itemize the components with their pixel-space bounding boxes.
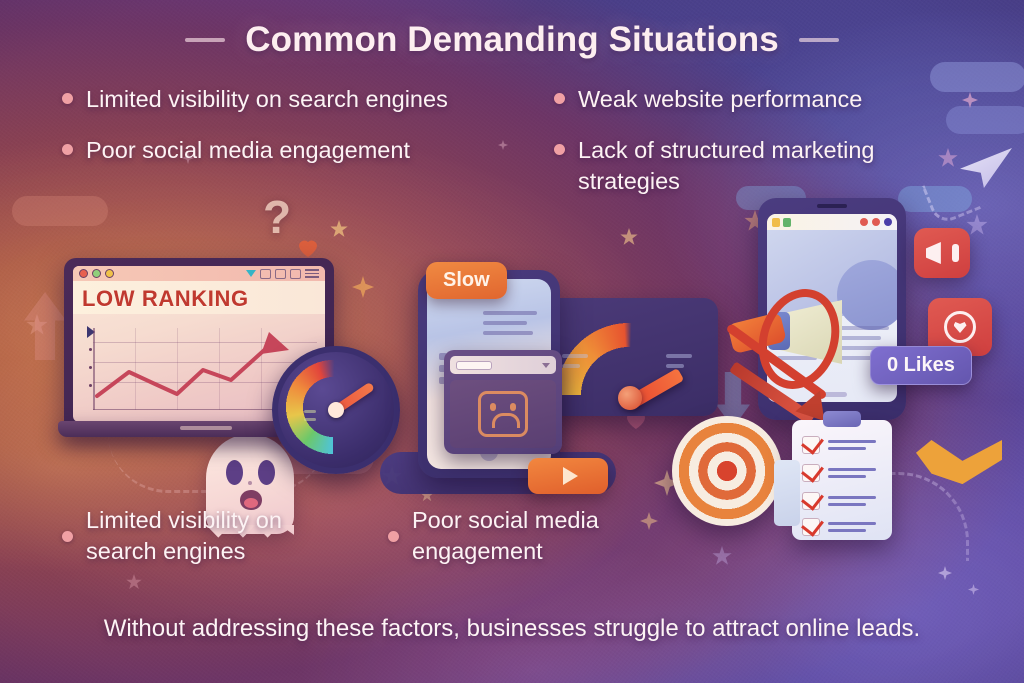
laptop-trackpad-notch (180, 426, 232, 430)
sad-face-eye-left (490, 403, 496, 411)
bottom-bullet-lists: Limited visibility on search engines Poo… (62, 505, 702, 567)
list-item: Poor social media engagement (62, 135, 530, 166)
slow-badge: Slow (426, 262, 507, 299)
browser-toolbar-right (246, 269, 319, 279)
tab-icon (772, 218, 780, 227)
speedometer-tick (562, 364, 580, 368)
gauge-tick (304, 418, 316, 421)
browser-headline-area: LOW RANKING (73, 281, 325, 314)
ghost-nose (248, 481, 252, 485)
bullet-dot-icon (62, 93, 73, 104)
megaphone-handle-glyph (952, 244, 959, 262)
checklist-text (828, 440, 876, 451)
address-field[interactable] (456, 361, 492, 370)
title-rule-right (799, 38, 839, 42)
list-item: Limited visibility on search engines (62, 84, 530, 115)
checklist-row (802, 492, 876, 510)
traffic-light-red-icon (79, 269, 88, 278)
speedometer-tick (666, 354, 692, 358)
clipboard-checklist-icon (792, 420, 892, 540)
megaphone-glyph (926, 242, 950, 264)
bullet-dot-icon (62, 144, 73, 155)
content-line (483, 331, 533, 335)
tab-icon (783, 218, 791, 227)
bullet-label: Limited visibility on search engines (86, 84, 448, 115)
phone-speaker-notch (817, 204, 847, 208)
filter-icon (246, 270, 256, 277)
checklist-text (828, 496, 876, 507)
speedometer-icon (540, 298, 718, 416)
clipboard-clip (823, 411, 861, 427)
panel-icon (260, 269, 271, 279)
sad-face-icon (478, 391, 528, 437)
low-ranking-headline: LOW RANKING (82, 286, 316, 312)
content-line (483, 321, 527, 325)
ghost-eye-left (226, 460, 243, 485)
closing-line: Without addressing these factors, busine… (0, 615, 1024, 643)
loading-window-icon (444, 350, 562, 454)
title-row: Common Demanding Situations (0, 20, 1024, 60)
megaphone-notification-icon (914, 228, 970, 278)
sad-face-eye-right (510, 403, 516, 411)
bullet-column-left: Limited visibility on search engines Poo… (62, 84, 530, 197)
bullet-label: Limited visibility on search engines (86, 505, 342, 567)
check-icon (801, 431, 824, 454)
status-dot-icon (872, 218, 880, 226)
panel-icon (275, 269, 286, 279)
chevron-down-icon (542, 363, 550, 368)
play-button-icon[interactable] (528, 458, 608, 494)
infographic-canvas: Common Demanding Situations Limited visi… (0, 0, 1024, 683)
status-dot-icon (860, 218, 868, 226)
bullet-dot-icon (554, 144, 565, 155)
phone-slow-illustration: Slow (404, 262, 604, 482)
title-rule-left (185, 38, 225, 42)
social-illustration: 0 Likes (742, 188, 1024, 508)
bullet-label: Poor social media engagement (86, 135, 410, 166)
checkbox-checked (802, 518, 820, 536)
heart-glyph (944, 311, 976, 343)
status-dot-icon (884, 218, 892, 226)
checkbox-checked (802, 492, 820, 510)
checklist-text (828, 468, 876, 479)
social-app-toolbar (767, 214, 897, 230)
content-line (483, 311, 537, 315)
loading-window-toolbar (450, 356, 556, 374)
list-item: Weak website performance (554, 84, 954, 115)
menu-icon (305, 269, 319, 278)
laptop-illustration: LOW RANKING (58, 258, 358, 458)
browser-toolbar (73, 266, 325, 281)
bullet-dot-icon (62, 531, 73, 542)
checklist-row (802, 436, 876, 454)
ghost-eye-right (258, 460, 275, 485)
likes-badge: 0 Likes (870, 346, 972, 385)
checklist-row (802, 464, 876, 482)
check-icon (801, 487, 824, 510)
panel-icon (290, 269, 301, 279)
list-item: Poor social media engagement (388, 505, 668, 567)
checklist-text (828, 522, 876, 533)
page-title: Common Demanding Situations (245, 20, 779, 60)
check-icon (801, 459, 824, 482)
speedometer-tick (562, 354, 588, 358)
top-bullet-lists: Limited visibility on search engines Poo… (62, 84, 962, 197)
question-mark-icon: ? (263, 190, 291, 244)
bullet-label: Weak website performance (578, 84, 862, 115)
chevron-icon (916, 440, 1002, 498)
bullet-column-right: Weak website performance Lack of structu… (554, 84, 954, 197)
bullet-dot-icon (554, 93, 565, 104)
bullet-dot-icon (388, 531, 399, 542)
gauge-tick (304, 410, 316, 413)
checklist-row (802, 518, 876, 536)
bullet-label: Poor social media engagement (412, 505, 668, 567)
loading-window-body (450, 380, 556, 448)
traffic-light-green-icon (92, 269, 101, 278)
gauge-icon (272, 346, 400, 474)
clipboard-side-card (774, 460, 800, 526)
checkbox-checked (802, 436, 820, 454)
checkbox-checked (802, 464, 820, 482)
traffic-light-yellow-icon (105, 269, 114, 278)
gauge-hub (328, 402, 344, 418)
list-item: Limited visibility on search engines (62, 505, 342, 567)
check-icon (801, 513, 824, 536)
sad-face-mouth (492, 413, 520, 428)
speedometer-hub (618, 386, 642, 410)
speedometer-tick (666, 364, 684, 368)
